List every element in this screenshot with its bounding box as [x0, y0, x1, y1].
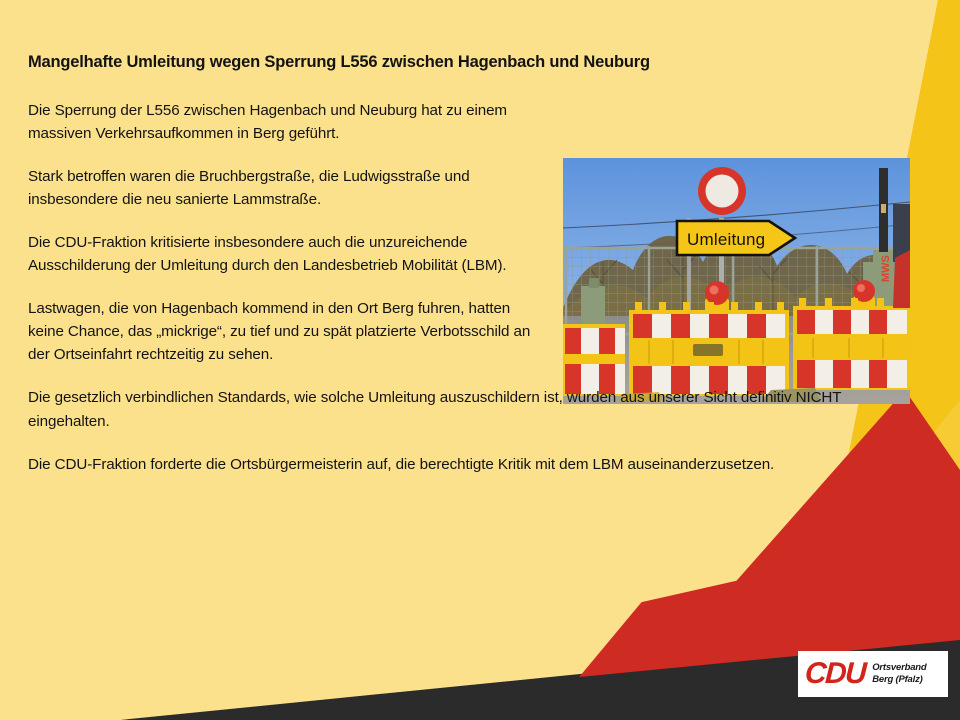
paragraph-2: Stark betroffen waren die Bruchbergstraß…	[28, 165, 533, 211]
cdu-wordmark: CDU	[804, 659, 866, 689]
page-title: Mangelhafte Umleitung wegen Sperrung L55…	[28, 52, 888, 73]
cdu-chapter-line1: Ortsverband	[872, 662, 926, 673]
paragraph-6: Die CDU-Fraktion forderte die Ortsbürger…	[28, 453, 873, 476]
paragraph-1: Die Sperrung der L556 zwischen Hagenbach…	[28, 99, 533, 145]
foreground-post	[893, 204, 910, 308]
paragraph-3: Die CDU-Fraktion kritisierte insbesonder…	[28, 231, 533, 277]
paragraph-5: Die gesetzlich verbindlichen Standards, …	[28, 386, 873, 432]
cdu-chapter: Ortsverband Berg (Pfalz)	[872, 662, 926, 686]
cdu-chapter-line2: Berg (Pfalz)	[872, 674, 922, 685]
slide-canvas: Umleitung MWS	[0, 0, 960, 720]
text-content: Mangelhafte Umleitung wegen Sperrung L55…	[28, 52, 888, 476]
paragraph-4: Lastwagen, die von Hagenbach kommend in …	[28, 297, 533, 366]
cdu-logo: CDU Ortsverband Berg (Pfalz)	[798, 651, 948, 697]
